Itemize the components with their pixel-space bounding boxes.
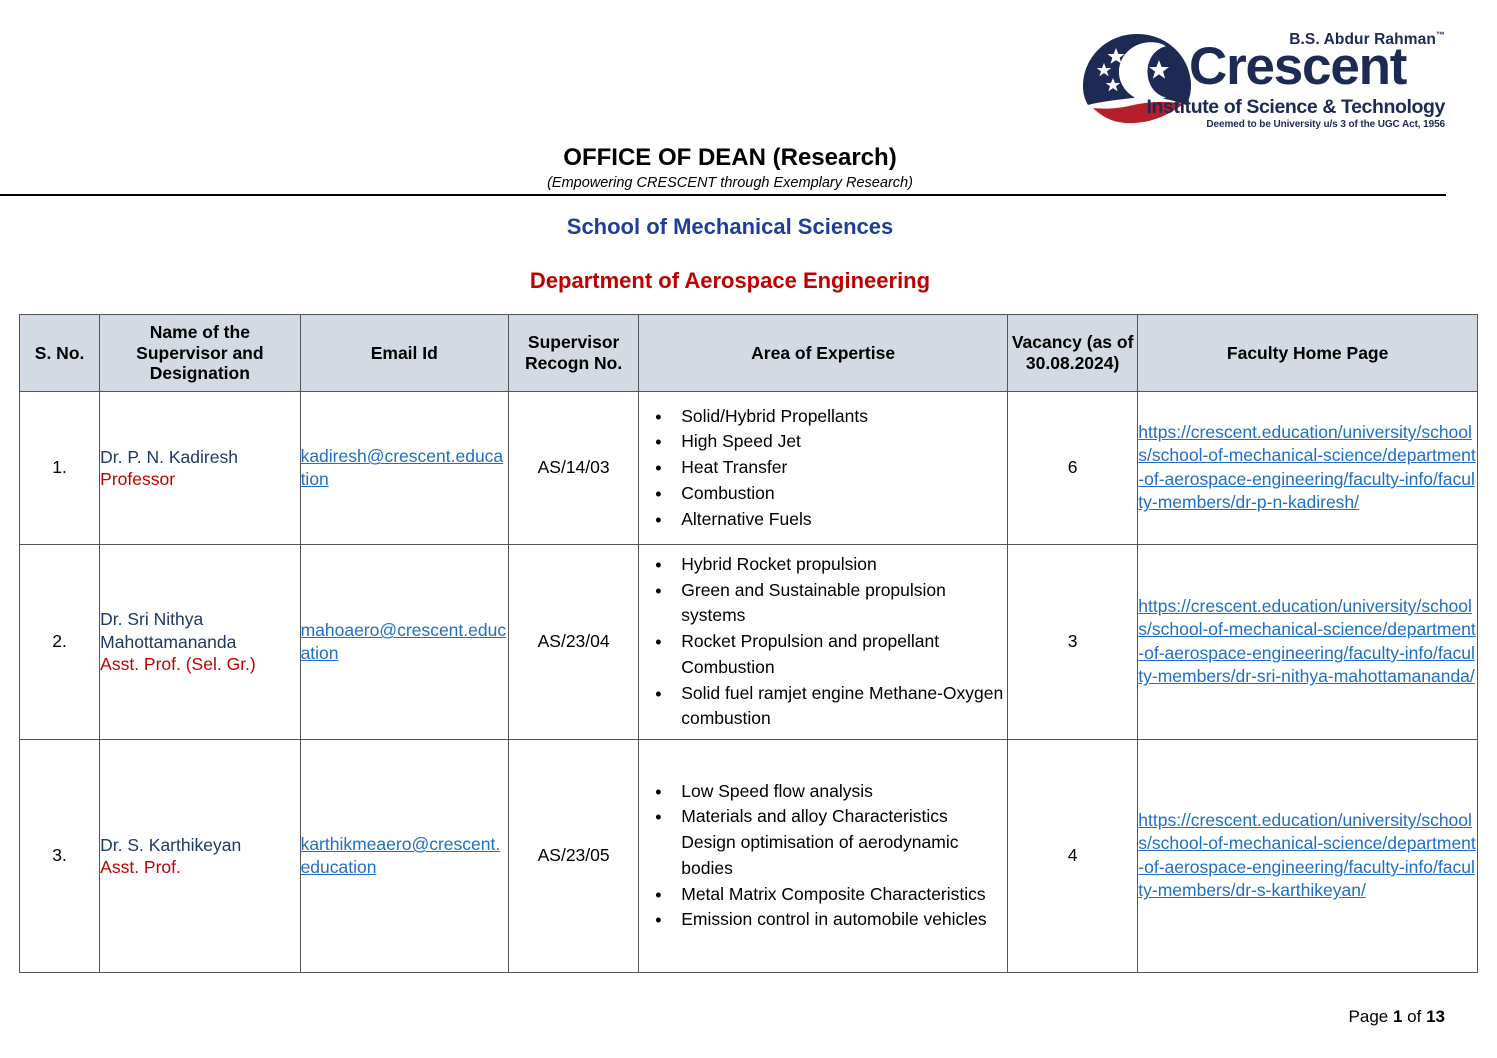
cell-faculty-home-page: https://crescent.education/university/sc… — [1138, 544, 1478, 739]
supervisors-table-wrapper: S. No. Name of the Supervisor and Design… — [19, 314, 1478, 973]
expertise-item: Hybrid Rocket propulsion — [681, 552, 1007, 578]
column-header-email: Email Id — [300, 315, 508, 392]
supervisor-designation: Professor — [100, 468, 299, 490]
expertise-item: Rocket Propulsion and propellant Combust… — [681, 629, 1007, 680]
email-link[interactable]: kadiresh@crescent.education — [301, 446, 504, 489]
expertise-item: Design optimisation of aerodynamic bodie… — [681, 830, 1007, 881]
cell-email: kadiresh@crescent.education — [300, 391, 508, 544]
faculty-home-page-link[interactable]: https://crescent.education/university/sc… — [1138, 810, 1476, 900]
table-row: 2.Dr. Sri Nithya MahottamanandaAsst. Pro… — [20, 544, 1478, 739]
expertise-item: Solid fuel ramjet engine Methane-Oxygen … — [681, 681, 1007, 732]
school-heading: School of Mechanical Sciences — [0, 214, 1460, 240]
expertise-item: Low Speed flow analysis — [681, 779, 1007, 805]
cell-supervisor-name: Dr. S. KarthikeyanAsst. Prof. — [100, 739, 300, 972]
cell-vacancy: 3 — [1008, 544, 1138, 739]
cell-faculty-home-page: https://crescent.education/university/sc… — [1138, 739, 1478, 972]
column-header-vacancy: Vacancy (as of 30.08.2024) — [1008, 315, 1138, 392]
page-title: OFFICE OF DEAN (Research) — [0, 144, 1460, 172]
supervisor-name: Dr. S. Karthikeyan — [100, 834, 299, 856]
trademark-icon: ™ — [1436, 30, 1445, 40]
page-subtitle: (Empowering CRESCENT through Exemplary R… — [0, 175, 1460, 191]
email-link[interactable]: karthikmeaero@crescent.education — [301, 834, 501, 877]
footer-prefix: Page — [1349, 1007, 1393, 1026]
faculty-home-page-link[interactable]: https://crescent.education/university/sc… — [1138, 596, 1476, 686]
expertise-item: Alternative Fuels — [681, 507, 1007, 533]
expertise-item: Combustion — [681, 481, 1007, 507]
table-header-row: S. No. Name of the Supervisor and Design… — [20, 315, 1478, 392]
expertise-item: Metal Matrix Composite Characteristics — [681, 882, 1007, 908]
document-page: B.S. Abdur Rahman™ Crescent Institute of… — [0, 0, 1497, 1058]
supervisor-designation: Asst. Prof. — [100, 856, 299, 878]
cell-serial-number: 3. — [20, 739, 100, 972]
column-header-name: Name of the Supervisor and Designation — [100, 315, 300, 392]
cell-recognition-number: AS/23/05 — [508, 739, 638, 972]
column-header-homepage: Faculty Home Page — [1138, 315, 1478, 392]
column-header-recognition: Supervisor Recogn No. — [508, 315, 638, 392]
cell-serial-number: 2. — [20, 544, 100, 739]
supervisor-name: Dr. P. N. Kadiresh — [100, 446, 299, 468]
table-row: 3.Dr. S. KarthikeyanAsst. Prof.karthikme… — [20, 739, 1478, 972]
cell-recognition-number: AS/23/04 — [508, 544, 638, 739]
expertise-item: Heat Transfer — [681, 455, 1007, 481]
expertise-item: Green and Sustainable propulsion systems — [681, 578, 1007, 629]
cell-email: karthikmeaero@crescent.education — [300, 739, 508, 972]
logo-wordmark: Crescent — [1189, 40, 1406, 93]
cell-email: mahoaero@crescent.education — [300, 544, 508, 739]
table-body: 1.Dr. P. N. KadireshProfessorkadiresh@cr… — [20, 391, 1478, 972]
crescent-logo: B.S. Abdur Rahman™ Crescent Institute of… — [1077, 24, 1445, 132]
expertise-list: Low Speed flow analysisMaterials and all… — [639, 779, 1007, 933]
cell-supervisor-name: Dr. P. N. KadireshProfessor — [100, 391, 300, 544]
cell-area-of-expertise: Solid/Hybrid PropellantsHigh Speed JetHe… — [639, 391, 1008, 544]
cell-faculty-home-page: https://crescent.education/university/sc… — [1138, 391, 1478, 544]
cell-vacancy: 4 — [1008, 739, 1138, 972]
column-header-sno: S. No. — [20, 315, 100, 392]
cell-area-of-expertise: Low Speed flow analysisMaterials and all… — [639, 739, 1008, 972]
cell-supervisor-name: Dr. Sri Nithya MahottamanandaAsst. Prof.… — [100, 544, 300, 739]
logo-deemed-line: Deemed to be University u/s 3 of the UGC… — [1206, 119, 1445, 130]
faculty-home-page-link[interactable]: https://crescent.education/university/sc… — [1138, 422, 1476, 512]
expertise-item: Emission control in automobile vehicles — [681, 907, 1007, 933]
cell-serial-number: 1. — [20, 391, 100, 544]
table-row: 1.Dr. P. N. KadireshProfessorkadiresh@cr… — [20, 391, 1478, 544]
supervisors-table: S. No. Name of the Supervisor and Design… — [19, 314, 1478, 973]
email-link[interactable]: mahoaero@crescent.education — [301, 620, 507, 663]
page-footer: Page 1 of 13 — [1349, 1007, 1445, 1027]
expertise-item: Materials and alloy Characteristics — [681, 804, 1007, 830]
department-heading: Department of Aerospace Engineering — [0, 268, 1460, 294]
cell-recognition-number: AS/14/03 — [508, 391, 638, 544]
supervisor-name: Dr. Sri Nithya Mahottamananda — [100, 608, 299, 653]
expertise-item: Solid/Hybrid Propellants — [681, 404, 1007, 430]
expertise-item: High Speed Jet — [681, 429, 1007, 455]
logo-institute-line: Institute of Science & Technology — [1147, 96, 1445, 119]
footer-middle: of — [1402, 1007, 1426, 1026]
expertise-list: Hybrid Rocket propulsionGreen and Sustai… — [639, 552, 1007, 732]
footer-total-pages: 13 — [1426, 1007, 1445, 1026]
supervisor-designation: Asst. Prof. (Sel. Gr.) — [100, 653, 299, 675]
expertise-list: Solid/Hybrid PropellantsHigh Speed JetHe… — [639, 404, 1007, 533]
header-divider — [0, 194, 1446, 196]
cell-vacancy: 6 — [1008, 391, 1138, 544]
column-header-expertise: Area of Expertise — [639, 315, 1008, 392]
cell-area-of-expertise: Hybrid Rocket propulsionGreen and Sustai… — [639, 544, 1008, 739]
